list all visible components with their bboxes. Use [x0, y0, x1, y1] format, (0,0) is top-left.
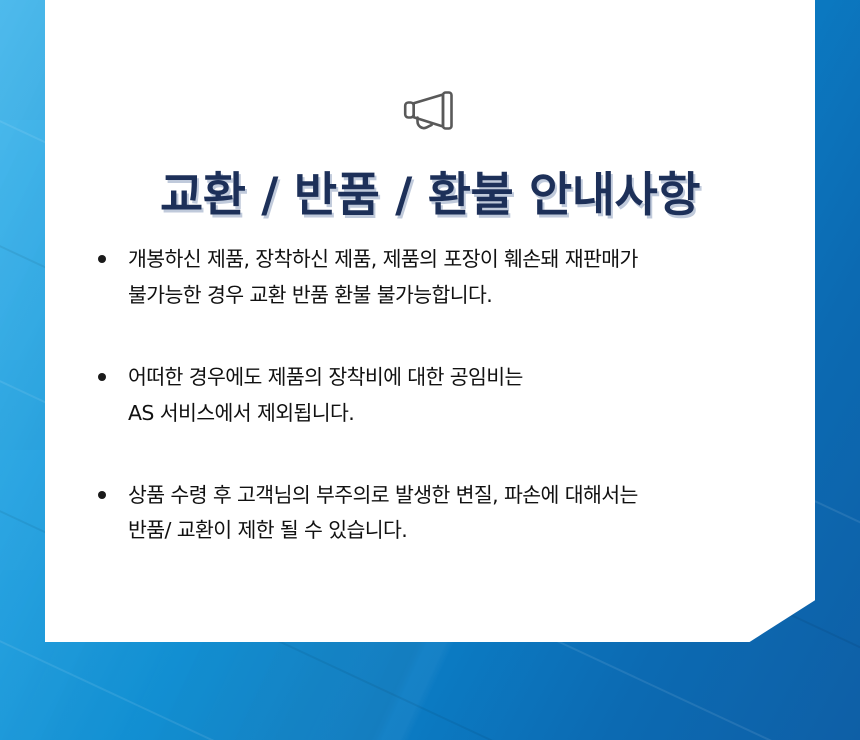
notice-line: 어떠한 경우에도 제품의 장착비에 대한 공임비는: [128, 360, 786, 396]
list-item: 어떠한 경우에도 제품의 장착비에 대한 공임비는 AS 서비스에서 제외됩니다…: [96, 360, 786, 432]
notice-line: AS 서비스에서 제외됩니다.: [128, 396, 786, 432]
notice-line: 반품/ 교환이 제한 될 수 있습니다.: [128, 513, 786, 549]
notice-line: 개봉하신 제품, 장착하신 제품, 제품의 포장이 훼손돼 재판매가: [128, 242, 786, 278]
notice-list: 개봉하신 제품, 장착하신 제품, 제품의 포장이 훼손돼 재판매가 불가능한 …: [96, 242, 786, 549]
list-item: 개봉하신 제품, 장착하신 제품, 제품의 포장이 훼손돼 재판매가 불가능한 …: [96, 242, 786, 314]
bullet-dot-icon: [98, 373, 106, 381]
bullet-dot-icon: [98, 491, 106, 499]
bullet-dot-icon: [98, 255, 106, 263]
megaphone-icon-wrap: [45, 88, 815, 136]
notice-banner: 교환 / 반품 / 환불 안내사항 개봉하신 제품, 장착하신 제품, 제품의 …: [0, 0, 860, 740]
notice-line: 불가능한 경우 교환 반품 환불 불가능합니다.: [128, 278, 786, 314]
list-item: 상품 수령 후 고객님의 부주의로 발생한 변질, 파손에 대해서는 반품/ 교…: [96, 478, 786, 550]
page-title: 교환 / 반품 / 환불 안내사항: [45, 169, 815, 223]
notice-line: 상품 수령 후 고객님의 부주의로 발생한 변질, 파손에 대해서는: [128, 478, 786, 514]
background-streak: [0, 690, 860, 740]
megaphone-icon: [402, 88, 458, 136]
notice-card: 교환 / 반품 / 환불 안내사항 개봉하신 제품, 장착하신 제품, 제품의 …: [45, 0, 815, 642]
